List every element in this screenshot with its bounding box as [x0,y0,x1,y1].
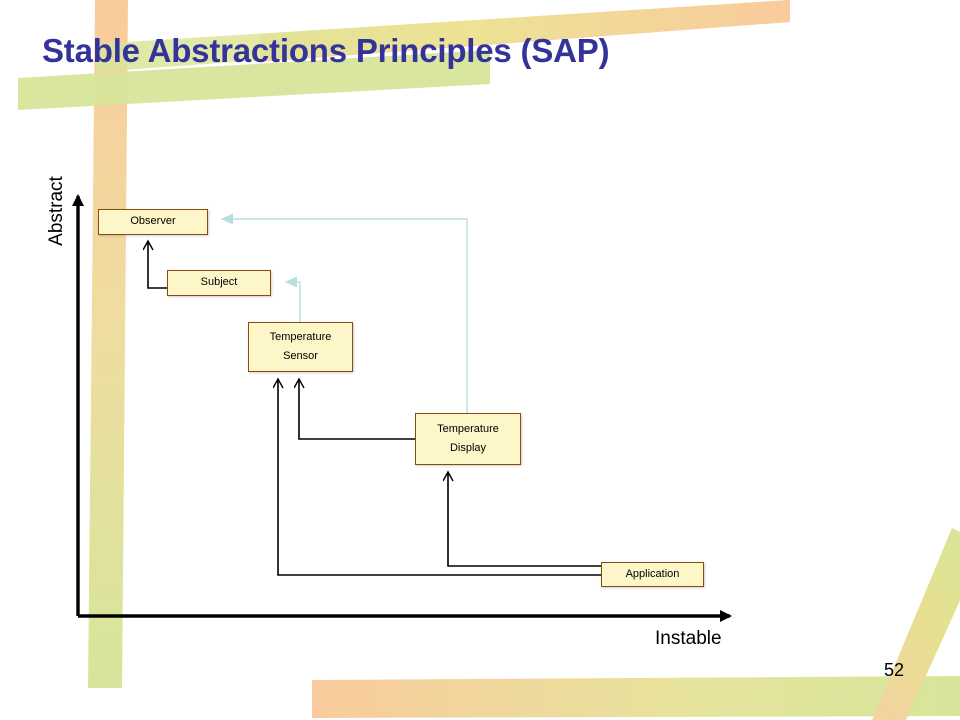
relation-tdisplay-to-tsensor [299,379,415,439]
uml-box-temperature-sensor-line-1: Temperature [270,332,332,344]
uml-box-application[interactable]: Application [601,562,704,587]
uml-box-observer[interactable]: Observer [98,209,208,235]
axis-lines [78,196,730,616]
uml-box-temperature-display-line-2: Display [450,443,486,455]
uml-box-temperature-display-line-1: Temperature [437,424,499,436]
uml-box-subject-line-1: Subject [201,277,238,289]
relation-application-to-tdisplay [448,472,601,566]
relation-application-to-tsensor [278,379,601,575]
uml-box-observer-line-1: Observer [130,216,175,228]
uml-diagram-canvas [0,0,960,720]
uml-box-subject[interactable]: Subject [167,270,271,296]
uml-box-temperature-display[interactable]: Temperature Display [415,413,521,465]
y-axis-label: Abstract [46,151,68,271]
slide: Stable Abstractions Principles (SAP) [0,0,960,720]
relation-tsensor-to-subject [286,282,300,322]
page-title: Stable Abstractions Principles (SAP) [42,32,609,70]
relation-subject-to-observer [148,241,167,288]
uml-box-temperature-sensor[interactable]: Temperature Sensor [248,322,353,372]
page-number: 52 [884,660,904,681]
uml-box-temperature-sensor-line-2: Sensor [283,351,318,363]
x-axis-label: Instable [655,628,722,650]
relation-tdisplay-to-observer [222,219,467,413]
uml-box-application-line-1: Application [626,569,680,581]
